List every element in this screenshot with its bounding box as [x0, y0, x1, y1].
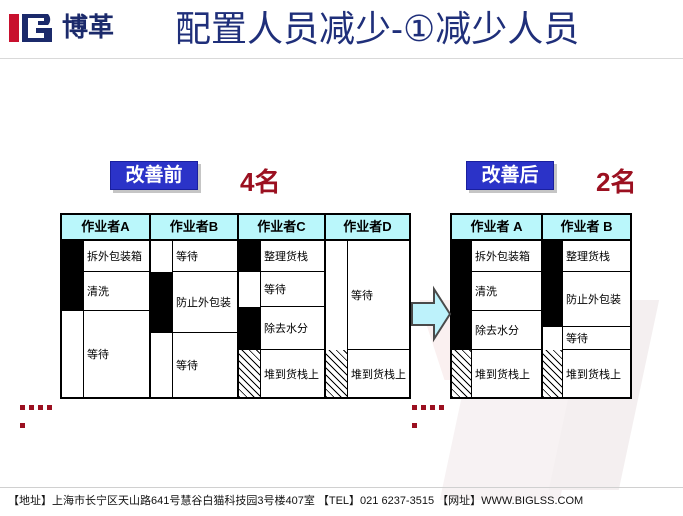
task-cell: 堆到货栈上	[563, 350, 630, 397]
worker-column: 整理货栈防止外包装等待堆到货栈上	[543, 241, 630, 397]
header-divider	[0, 58, 683, 59]
column-header: 作业者A	[62, 215, 151, 239]
count-before: 4名	[240, 167, 280, 197]
chart-before: 作业者A作业者B作业者C作业者D 拆外包装箱清洗等待等待防止外包装等待整理货栈等…	[60, 213, 411, 399]
badge-before: 改善前	[110, 161, 198, 190]
task-cell: 堆到货栈上	[348, 350, 409, 397]
bar-segment-white	[543, 327, 562, 350]
worker-column: 等待堆到货栈上	[326, 241, 409, 397]
brand-logo: 博革	[8, 10, 128, 48]
load-bar	[543, 241, 563, 397]
bar-segment-hatch	[452, 350, 471, 397]
worker-column: 等待防止外包装等待	[151, 241, 239, 397]
task-cell: 拆外包装箱	[472, 241, 541, 272]
task-cell: 除去水分	[261, 307, 324, 351]
right-arrow-icon	[410, 285, 452, 343]
load-bar	[151, 241, 173, 397]
task-cell: 等待	[563, 327, 630, 350]
bar-segment-hatch	[239, 350, 260, 397]
column-header: 作业者 A	[452, 215, 543, 239]
bar-segment-black	[62, 241, 83, 311]
count-after: 2名	[596, 167, 636, 197]
footer-contact: 【地址】上海市长宁区天山路641号慧谷白猫科技园3号楼407室 【TEL】021…	[8, 492, 678, 510]
task-cell: 除去水分	[472, 311, 541, 350]
bar-segment-black	[239, 307, 260, 351]
task-cell: 清洗	[472, 272, 541, 311]
task-cell: 等待	[173, 241, 237, 272]
task-cell: 等待	[84, 311, 149, 397]
task-column: 等待防止外包装等待	[173, 241, 237, 397]
load-bar	[239, 241, 261, 397]
bar-segment-white	[151, 333, 172, 397]
column-header: 作业者 B	[543, 215, 630, 239]
chart-after: 作业者 A作业者 B 拆外包装箱清洗除去水分堆到货栈上整理货栈防止外包装等待堆到…	[450, 213, 632, 399]
bar-segment-white	[151, 241, 172, 272]
worker-column: 整理货栈等待除去水分堆到货栈上	[239, 241, 326, 397]
connector-dots-left	[20, 397, 60, 402]
bar-segment-white	[326, 241, 347, 350]
task-cell: 防止外包装	[563, 272, 630, 327]
worker-column: 拆外包装箱清洗除去水分堆到货栈上	[452, 241, 543, 397]
bg-logo-icon	[8, 12, 58, 44]
body-row-after: 拆外包装箱清洗除去水分堆到货栈上整理货栈防止外包装等待堆到货栈上	[452, 241, 630, 397]
connector-dots-middle	[412, 397, 450, 402]
logo-text: 博革	[62, 10, 114, 44]
bar-segment-black	[452, 241, 471, 350]
task-cell: 拆外包装箱	[84, 241, 149, 272]
task-cell: 等待	[348, 241, 409, 350]
load-bar	[326, 241, 348, 397]
task-cell: 等待	[261, 272, 324, 306]
column-header: 作业者D	[326, 215, 409, 239]
bar-segment-white	[239, 272, 260, 306]
task-column: 拆外包装箱清洗等待	[84, 241, 149, 397]
task-column: 拆外包装箱清洗除去水分堆到货栈上	[472, 241, 541, 397]
task-cell: 等待	[173, 333, 237, 397]
bar-segment-hatch	[326, 350, 347, 397]
task-cell: 整理货栈	[563, 241, 630, 272]
task-cell: 堆到货栈上	[261, 350, 324, 397]
header-row-after: 作业者 A作业者 B	[452, 215, 630, 241]
task-column: 整理货栈等待除去水分堆到货栈上	[261, 241, 324, 397]
task-cell: 堆到货栈上	[472, 350, 541, 397]
task-cell: 防止外包装	[173, 272, 237, 333]
page-title: 配置人员减少-①减少人员	[175, 2, 680, 56]
bar-segment-hatch	[543, 350, 562, 397]
task-column: 整理货栈防止外包装等待堆到货栈上	[563, 241, 630, 397]
load-bar	[62, 241, 84, 397]
footer-divider	[0, 487, 683, 488]
slide-header: 博革 配置人员减少-①减少人员	[0, 0, 683, 60]
worker-column: 拆外包装箱清洗等待	[62, 241, 151, 397]
bar-segment-black	[151, 272, 172, 333]
bar-segment-white	[62, 311, 83, 397]
task-cell: 整理货栈	[261, 241, 324, 272]
header-row-before: 作业者A作业者B作业者C作业者D	[62, 215, 409, 241]
task-column: 等待堆到货栈上	[348, 241, 409, 397]
body-row-before: 拆外包装箱清洗等待等待防止外包装等待整理货栈等待除去水分堆到货栈上等待堆到货栈上	[62, 241, 409, 397]
badge-after: 改善后	[466, 161, 554, 190]
column-header: 作业者B	[151, 215, 239, 239]
column-header: 作业者C	[239, 215, 326, 239]
bar-segment-black	[239, 241, 260, 272]
task-cell: 清洗	[84, 272, 149, 311]
bar-segment-black	[543, 241, 562, 327]
load-bar	[452, 241, 472, 397]
